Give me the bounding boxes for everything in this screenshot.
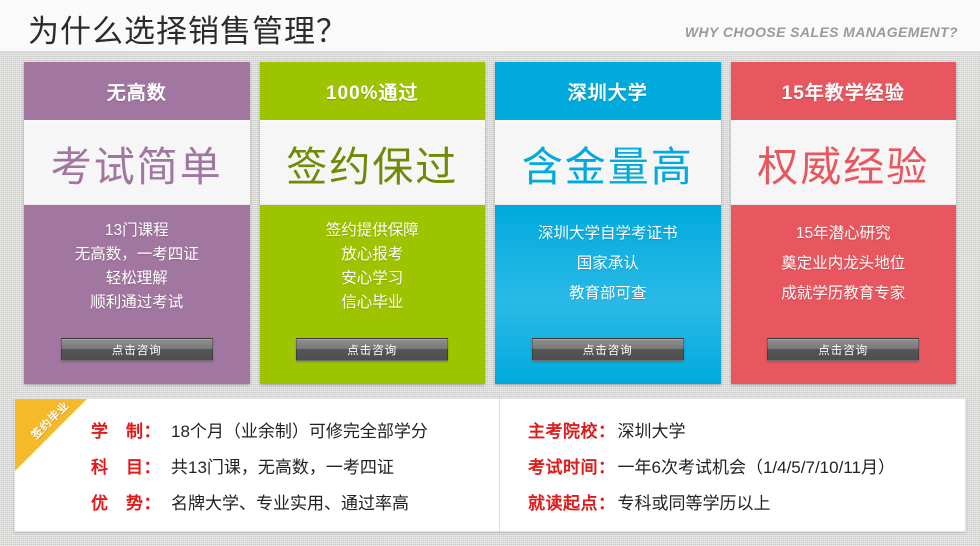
info-value: 共13门课，无高数，一考四证 (171, 453, 394, 478)
info-row-entry-requirement: 就读起点： 专科或同等学历以上 (528, 489, 965, 514)
card-body: 13门课程 无高数，一考四证 轻松理解 顺利通过考试 点击咨询 (24, 205, 250, 384)
card-bullet-list: 签约提供保障 放心报考 安心学习 信心毕业 (326, 219, 419, 338)
info-row-university: 主考院校： 深圳大学 (528, 417, 965, 442)
list-item: 信心毕业 (341, 291, 403, 315)
card-header-label: 100%通过 (260, 62, 486, 120)
card-banner-label: 含金量高 (522, 133, 694, 193)
card-banner: 权威经验 (731, 120, 957, 205)
info-value: 专科或同等学历以上 (618, 489, 771, 514)
info-column-right: 主考院校： 深圳大学 考试时间： 一年6次考试机会（1/4/5/7/10/11月… (499, 399, 965, 531)
consult-button[interactable]: 点击咨询 (767, 338, 919, 361)
page-title: 为什么选择销售管理？ (28, 6, 348, 51)
card-banner-label: 签约保过 (286, 133, 458, 193)
card-body: 深圳大学自学考证书 国家承认 教育部可查 点击咨询 (495, 205, 721, 384)
card-banner-label: 权威经验 (757, 133, 929, 193)
consult-button[interactable]: 点击咨询 (532, 338, 684, 361)
info-label: 学 制： (91, 417, 169, 442)
feature-card-guaranteed-pass: 100%通过 签约保过 签约提供保障 放心报考 安心学习 信心毕业 点击咨询 (260, 62, 486, 384)
feature-card-no-advanced-math: 无高数 考试简单 13门课程 无高数，一考四证 轻松理解 顺利通过考试 点击咨询 (24, 62, 250, 384)
card-banner: 签约保过 (260, 120, 486, 205)
card-body: 签约提供保障 放心报考 安心学习 信心毕业 点击咨询 (260, 205, 486, 384)
card-body: 15年潜心研究 奠定业内龙头地位 成就学历教育专家 点击咨询 (731, 205, 957, 384)
consult-button[interactable]: 点击咨询 (296, 338, 448, 361)
list-item: 15年潜心研究 (796, 219, 891, 249)
list-item: 签约提供保障 (326, 219, 419, 243)
info-label: 考试时间： (528, 453, 616, 478)
list-item: 国家承认 (577, 249, 639, 279)
card-banner-label: 考试简单 (51, 133, 223, 193)
card-bullet-list: 深圳大学自学考证书 国家承认 教育部可查 (538, 219, 678, 338)
list-item: 顺利通过考试 (90, 291, 183, 315)
card-banner: 含金量高 (495, 120, 721, 205)
info-row-duration: 学 制： 18个月（业余制）可修完全部学分 (91, 417, 499, 442)
card-header-label: 无高数 (24, 62, 250, 120)
card-bullet-list: 15年潜心研究 奠定业内龙头地位 成就学历教育专家 (781, 219, 905, 338)
consult-button[interactable]: 点击咨询 (61, 338, 213, 361)
info-label: 就读起点： (528, 489, 616, 514)
card-header-label: 15年教学经验 (731, 62, 957, 120)
card-banner: 考试简单 (24, 120, 250, 205)
info-row-advantages: 优 势： 名牌大学、专业实用、通过率高 (91, 489, 499, 514)
info-row-exam-schedule: 考试时间： 一年6次考试机会（1/4/5/7/10/11月） (528, 453, 965, 478)
info-label: 科 目： (91, 453, 169, 478)
list-item: 13门课程 (105, 219, 169, 243)
list-item: 安心学习 (341, 267, 403, 291)
info-row-subjects: 科 目： 共13门课，无高数，一考四证 (91, 453, 499, 478)
page-subtitle: WHY CHOOSE SALES MANAGEMENT? (685, 24, 958, 40)
info-value: 一年6次考试机会（1/4/5/7/10/11月） (618, 453, 895, 478)
list-item: 深圳大学自学考证书 (538, 219, 678, 249)
info-column-left: 学 制： 18个月（业余制）可修完全部学分 科 目： 共13门课，无高数，一考四… (15, 399, 499, 531)
list-item: 教育部可查 (569, 279, 647, 309)
list-item: 放心报考 (341, 243, 403, 267)
page-header: 为什么选择销售管理？ WHY CHOOSE SALES MANAGEMENT? (0, 0, 980, 52)
feature-card-row: 无高数 考试简单 13门课程 无高数，一考四证 轻松理解 顺利通过考试 点击咨询… (0, 62, 980, 384)
list-item: 轻松理解 (106, 267, 168, 291)
feature-card-15-years-experience: 15年教学经验 权威经验 15年潜心研究 奠定业内龙头地位 成就学历教育专家 点… (731, 62, 957, 384)
info-label: 主考院校： (528, 417, 616, 442)
info-value: 18个月（业余制）可修完全部学分 (171, 417, 428, 442)
info-value: 名牌大学、专业实用、通过率高 (171, 489, 409, 514)
list-item: 无高数，一考四证 (75, 243, 199, 267)
card-header-label: 深圳大学 (495, 62, 721, 120)
program-info-panel: 签约毕业 学 制： 18个月（业余制）可修完全部学分 科 目： 共13门课，无高… (14, 398, 966, 532)
info-label: 优 势： (91, 489, 169, 514)
card-bullet-list: 13门课程 无高数，一考四证 轻松理解 顺利通过考试 (75, 219, 199, 338)
list-item: 成就学历教育专家 (781, 279, 905, 309)
info-value: 深圳大学 (618, 417, 686, 442)
list-item: 奠定业内龙头地位 (781, 249, 905, 279)
feature-card-shenzhen-university: 深圳大学 含金量高 深圳大学自学考证书 国家承认 教育部可查 点击咨询 (495, 62, 721, 384)
